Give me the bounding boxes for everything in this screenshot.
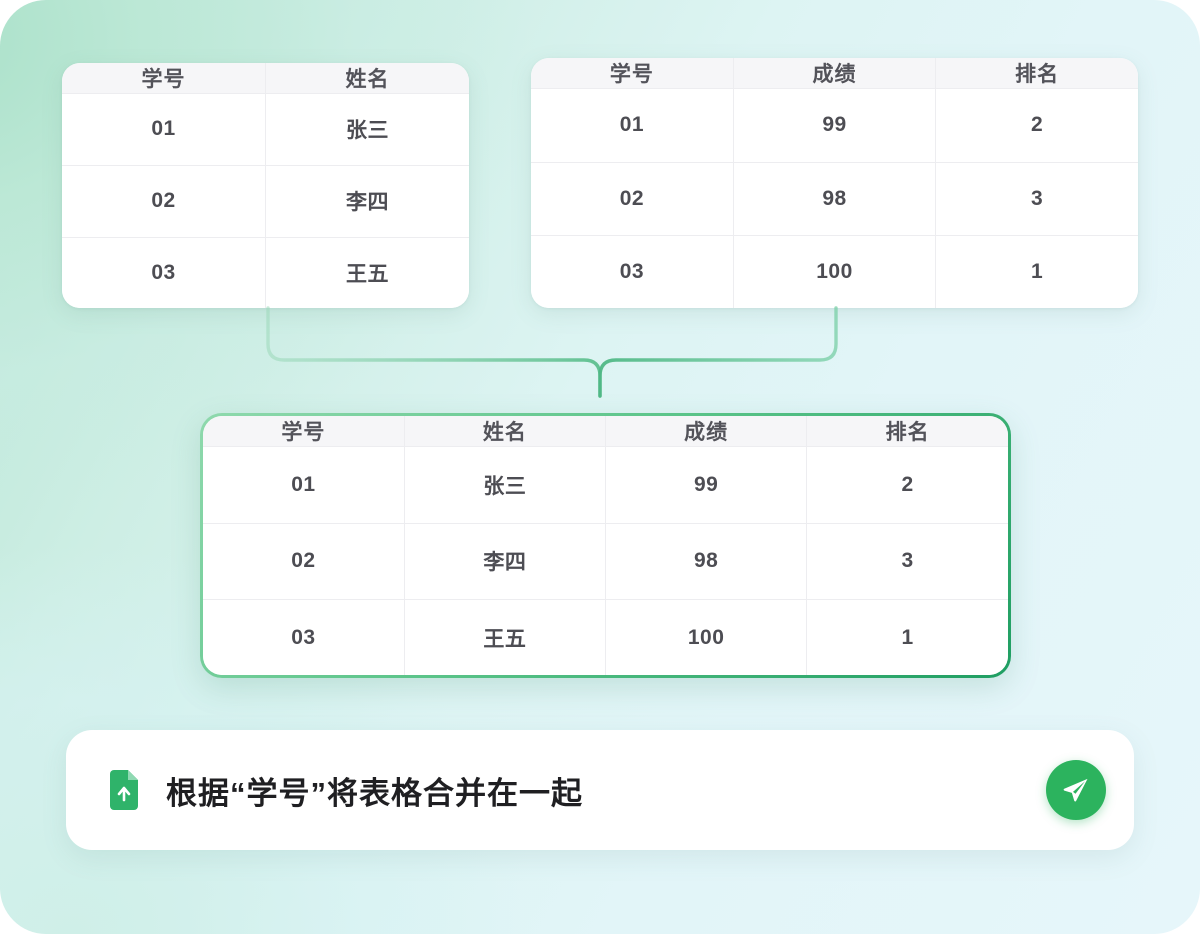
prompt-text[interactable]: 根据“学号”将表格合并在一起	[166, 768, 1046, 813]
merged-table-grid: 学号 姓名 成绩 排名 01 张三 99 2 02 李四 98 3	[203, 416, 1008, 675]
scores-table-grid: 学号 成绩 排名 01 99 2 02 98 3 03 100	[531, 58, 1138, 308]
students-table-body: 01 张三 02 李四 03 王五	[62, 94, 469, 309]
scores-table-body: 01 99 2 02 98 3 03 100 1	[531, 89, 1138, 309]
cell-student-id: 02	[203, 523, 404, 600]
send-button[interactable]	[1046, 760, 1106, 820]
cell-score: 100	[606, 600, 807, 675]
cell-score: 100	[733, 236, 935, 308]
column-header-rank: 排名	[807, 416, 1008, 447]
connector-left-branch	[268, 308, 600, 396]
column-header-name: 姓名	[266, 63, 470, 94]
cell-student-id: 03	[203, 600, 404, 675]
merged-table: 学号 姓名 成绩 排名 01 张三 99 2 02 李四 98 3	[200, 413, 1011, 678]
cell-student-id: 02	[531, 162, 733, 236]
column-header-name: 姓名	[404, 416, 605, 447]
table-row: 02 李四 98 3	[203, 523, 1008, 600]
table-row: 01 99 2	[531, 89, 1138, 163]
table-row: 02 李四	[62, 165, 469, 237]
cell-student-id: 02	[62, 165, 266, 237]
table-header-row: 学号 成绩 排名	[531, 58, 1138, 89]
send-paper-plane-icon	[1061, 775, 1091, 805]
cell-name: 张三	[404, 447, 605, 524]
column-header-student-id: 学号	[203, 416, 404, 447]
cell-score: 99	[733, 89, 935, 163]
scores-table-head: 学号 成绩 排名	[531, 58, 1138, 89]
table-row: 01 张三 99 2	[203, 447, 1008, 524]
merged-table-body: 01 张三 99 2 02 李四 98 3 03 王五 100 1	[203, 447, 1008, 676]
cell-student-id: 01	[531, 89, 733, 163]
merged-table-head: 学号 姓名 成绩 排名	[203, 416, 1008, 447]
cell-rank: 2	[936, 89, 1138, 163]
table-row: 01 张三	[62, 94, 469, 166]
table-header-row: 学号 姓名	[62, 63, 469, 94]
column-header-rank: 排名	[936, 58, 1138, 89]
cell-rank: 1	[807, 600, 1008, 675]
students-table: 学号 姓名 01 张三 02 李四 03 王五	[62, 63, 469, 308]
students-table-head: 学号 姓名	[62, 63, 469, 94]
students-table-grid: 学号 姓名 01 张三 02 李四 03 王五	[62, 63, 469, 308]
column-header-score: 成绩	[733, 58, 935, 89]
cell-name: 李四	[266, 165, 470, 237]
cell-rank: 3	[936, 162, 1138, 236]
cell-student-id: 01	[62, 94, 266, 166]
cell-rank: 1	[936, 236, 1138, 308]
cell-score: 98	[606, 523, 807, 600]
table-row: 03 王五 100 1	[203, 600, 1008, 675]
cell-name: 张三	[266, 94, 470, 166]
cell-student-id: 01	[203, 447, 404, 524]
file-upload-icon[interactable]	[108, 770, 140, 810]
table-row: 03 100 1	[531, 236, 1138, 308]
scores-table: 学号 成绩 排名 01 99 2 02 98 3 03 100	[531, 58, 1138, 308]
connector-right-branch	[600, 308, 836, 396]
cell-student-id: 03	[62, 237, 266, 308]
cell-name: 李四	[404, 523, 605, 600]
column-header-score: 成绩	[606, 416, 807, 447]
cell-score: 98	[733, 162, 935, 236]
table-row: 02 98 3	[531, 162, 1138, 236]
column-header-student-id: 学号	[62, 63, 266, 94]
cell-name: 王五	[266, 237, 470, 308]
cell-rank: 2	[807, 447, 1008, 524]
table-header-row: 学号 姓名 成绩 排名	[203, 416, 1008, 447]
table-row: 03 王五	[62, 237, 469, 308]
illustration-canvas: 学号 姓名 01 张三 02 李四 03 王五	[0, 0, 1200, 934]
prompt-input-bar[interactable]: 根据“学号”将表格合并在一起	[66, 730, 1134, 850]
cell-rank: 3	[807, 523, 1008, 600]
cell-score: 99	[606, 447, 807, 524]
cell-name: 王五	[404, 600, 605, 675]
column-header-student-id: 学号	[531, 58, 733, 89]
cell-student-id: 03	[531, 236, 733, 308]
